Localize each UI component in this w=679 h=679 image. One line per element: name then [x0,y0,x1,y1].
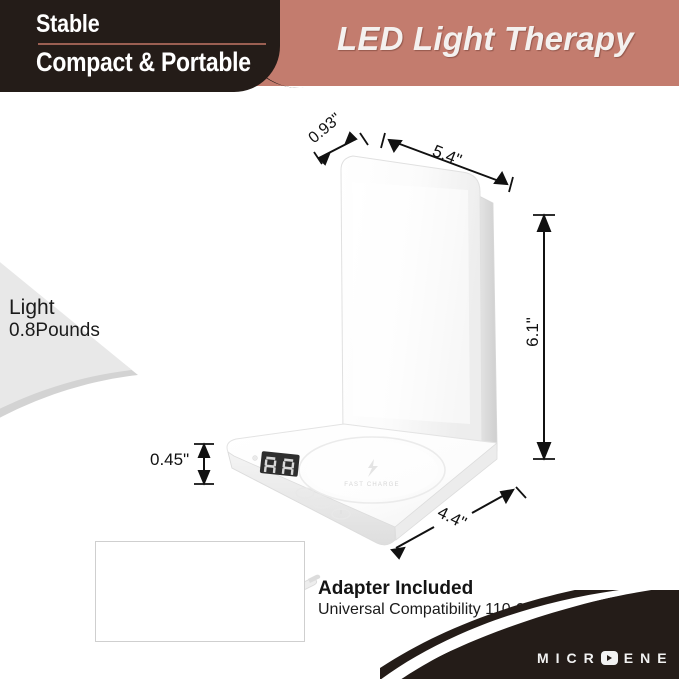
weight-callout-label: Light [9,296,55,320]
header-left-line2: Compact & Portable [36,47,251,78]
play-badge-icon [601,651,618,665]
dimension-label-height-side: 6.1" [523,317,543,347]
dimension-arrows [194,133,555,558]
brand-name-part1: MICR [537,650,601,666]
dimension-label-base-depth: 4.4" [434,503,469,534]
weight-callout-value: 0.8Pounds [9,320,100,342]
wireless-charge-ring [299,437,445,503]
timer-button [313,498,331,508]
header-left-divider-rule [38,43,266,45]
header-banner: Stable Compact & Portable LED Light Ther… [0,0,679,88]
header-main-title: LED Light Therapy [337,20,634,58]
fast-charge-text: FAST CHARGE [344,482,399,488]
header-left-line1: Stable [36,10,99,39]
touch-controls [296,488,350,519]
brand-logo: MICR ENE [537,650,674,666]
power-button [332,509,350,519]
adapter-image-frame [95,541,305,642]
dimension-label-depth-top: 0.93" [306,110,346,147]
indicator-led [253,456,258,461]
led-panel-group [341,156,497,456]
brightness-button [296,488,314,498]
dimension-label-base-thickness: 0.45" [150,450,189,470]
digital-display [253,451,300,477]
infographic-canvas: Stable Compact & Portable LED Light Ther… [0,0,679,679]
brand-name-part2: ENE [624,650,674,666]
dimension-label-width-top: 5.4" [429,141,464,171]
lightning-bolt-icon [368,459,378,477]
